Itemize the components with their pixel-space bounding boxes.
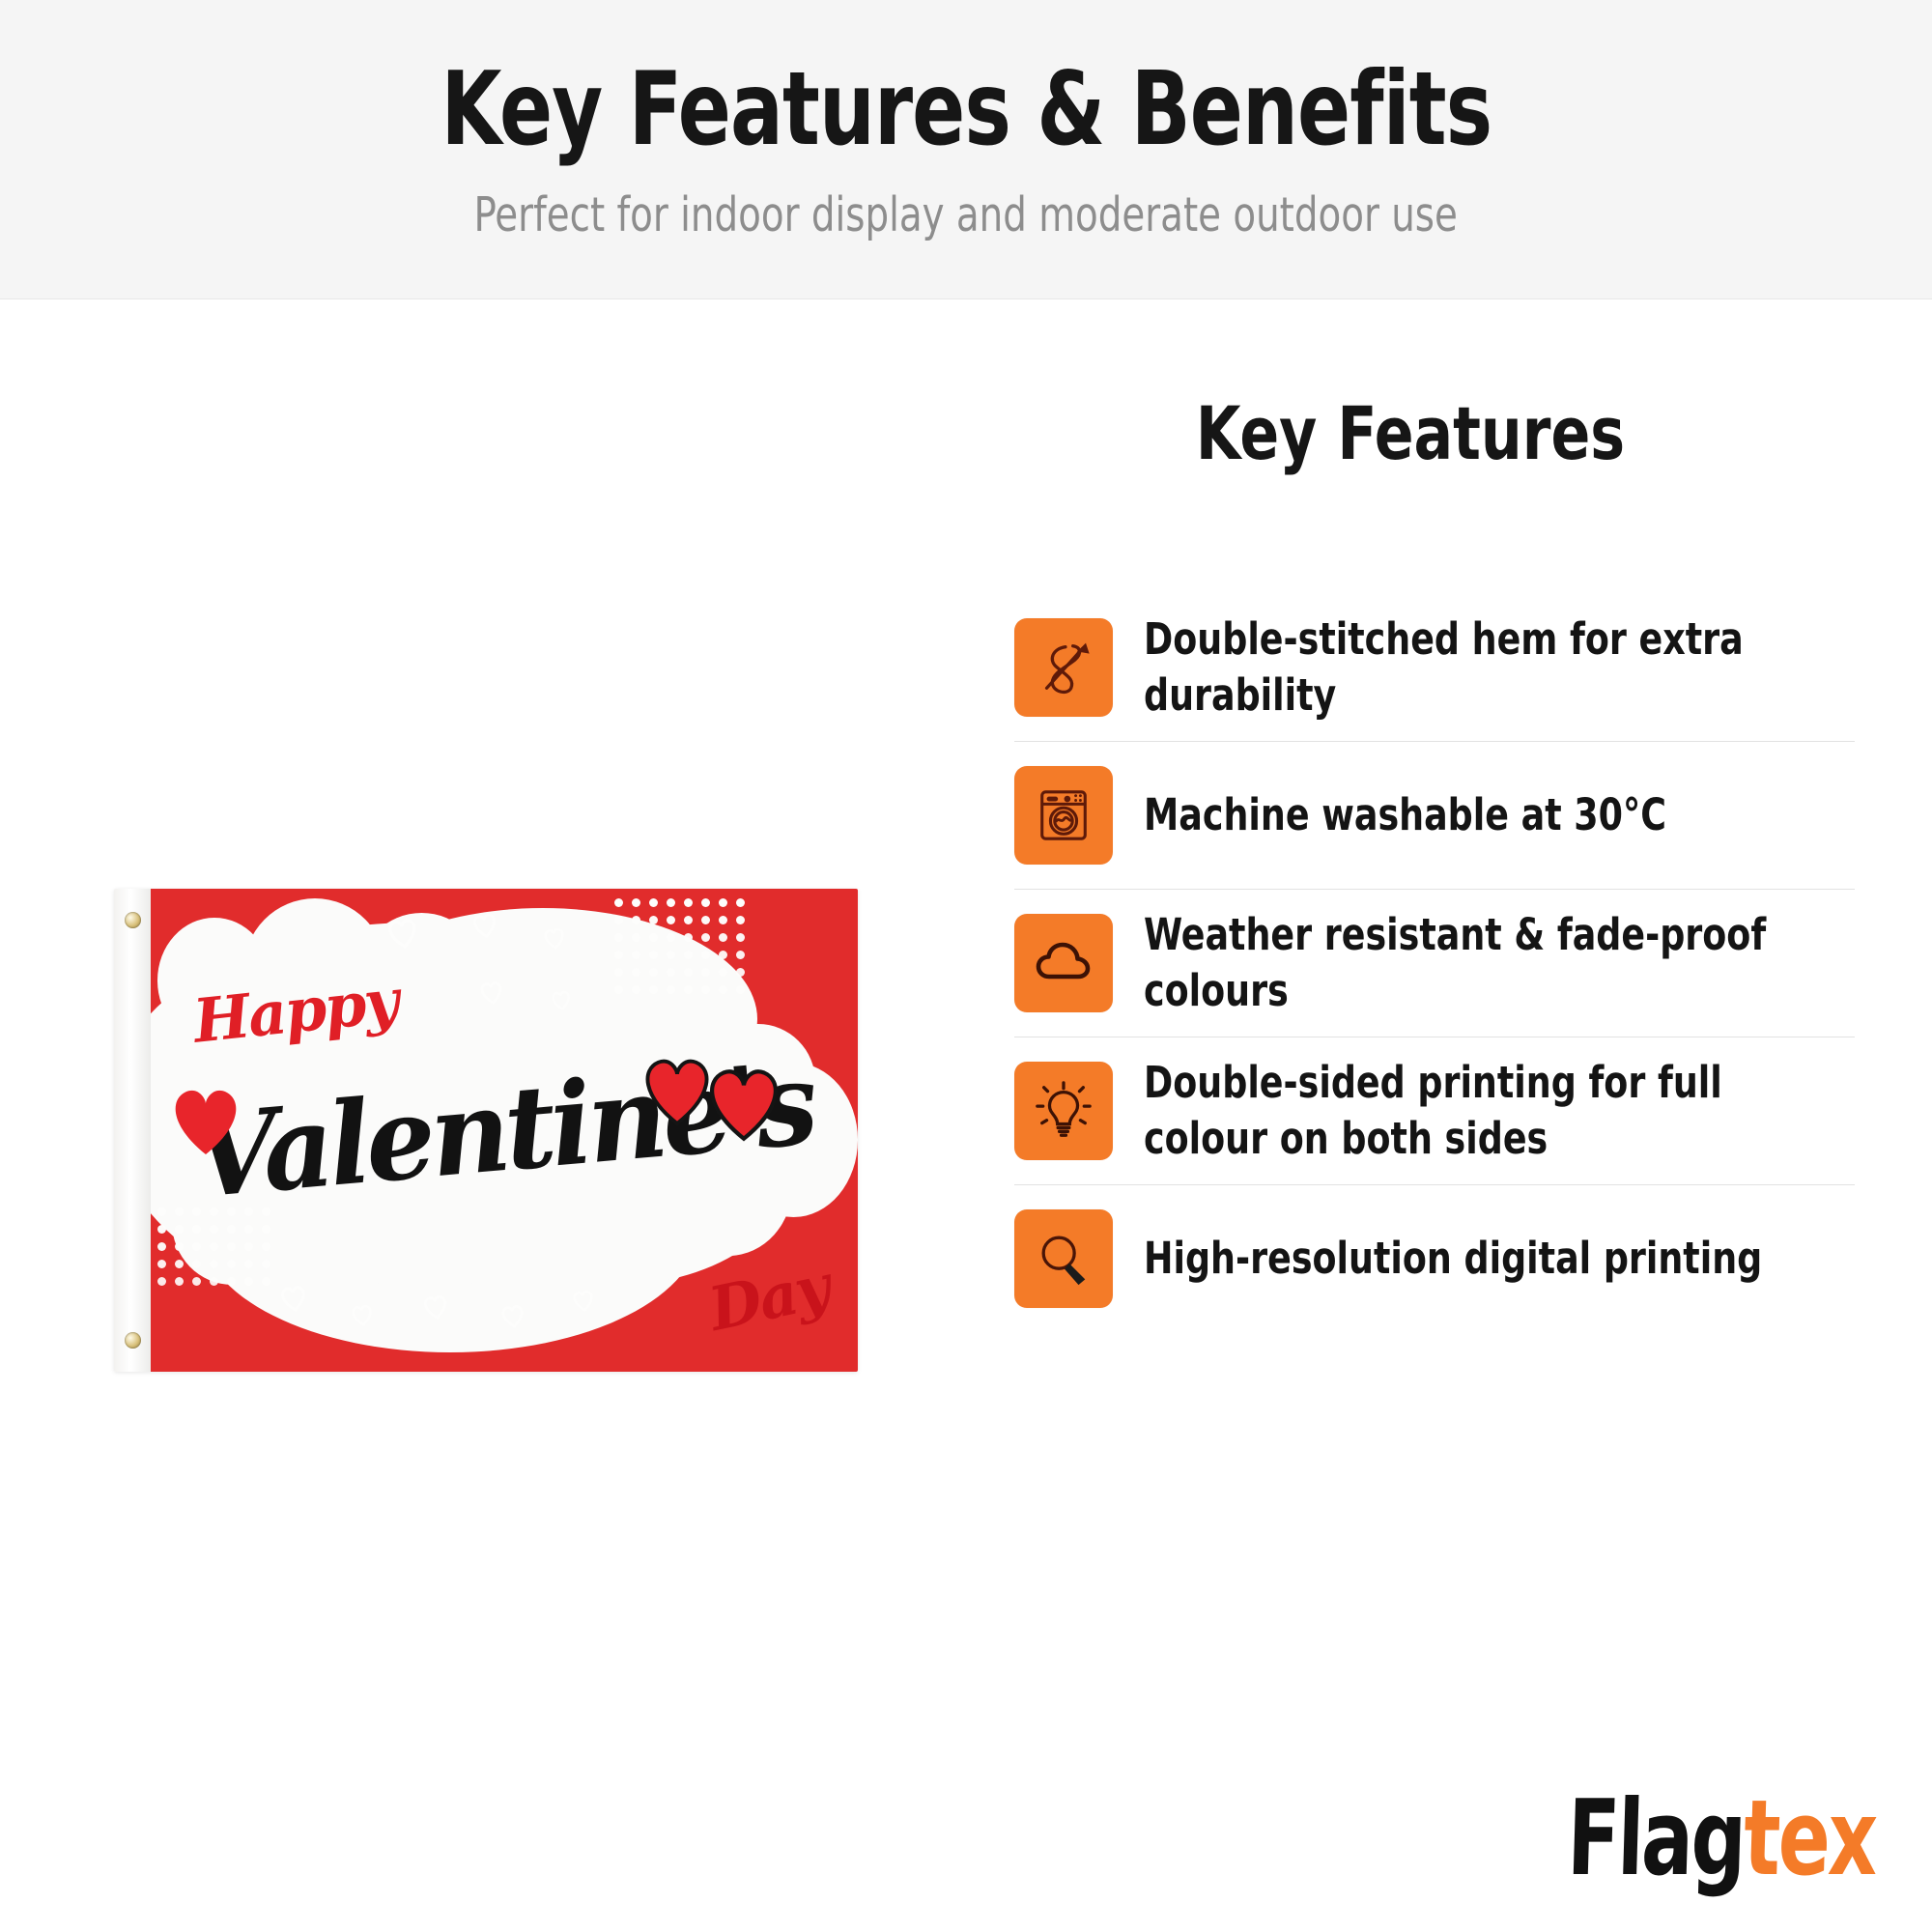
magnifier-icon bbox=[1014, 1209, 1113, 1308]
flag-dot bbox=[227, 1260, 236, 1268]
flag-dot bbox=[157, 1277, 166, 1286]
feature-item[interactable]: Weather resistant & fade-proof colours bbox=[1014, 890, 1855, 1037]
flag-dot bbox=[262, 1242, 270, 1251]
feature-label: High-resolution digital printing bbox=[1144, 1231, 1783, 1287]
flag-dot bbox=[210, 1225, 218, 1234]
flag-dot bbox=[210, 1260, 218, 1268]
page-header: Key Features & Benefits Perfect for indo… bbox=[0, 0, 1932, 299]
flag-dot bbox=[175, 1277, 184, 1286]
flag-dot bbox=[175, 1225, 184, 1234]
features-heading: Key Features bbox=[1037, 390, 1784, 476]
flag-dot bbox=[227, 1277, 236, 1286]
flag-outline-heart bbox=[549, 989, 573, 1012]
flag-dot bbox=[175, 1207, 184, 1216]
feature-item[interactable]: Double-sided printing for full colour on… bbox=[1014, 1037, 1855, 1184]
flag-dot bbox=[684, 898, 693, 907]
flag-dot bbox=[736, 968, 745, 977]
flag-dot bbox=[719, 916, 727, 924]
flag-dot bbox=[157, 1260, 166, 1268]
flag-dot bbox=[736, 898, 745, 907]
feature-label: Weather resistant & fade-proof colours bbox=[1144, 907, 1783, 1018]
flag-outline-heart bbox=[470, 911, 500, 940]
flag-dot bbox=[244, 1225, 253, 1234]
needle-thread-icon bbox=[1014, 618, 1113, 717]
flag-dot bbox=[210, 1277, 218, 1286]
flag-dot bbox=[667, 916, 675, 924]
flag-dot bbox=[262, 1277, 270, 1286]
flag-solid-heart bbox=[700, 1063, 787, 1144]
valentines-flag: Happy Valentine's Day bbox=[114, 889, 858, 1372]
feature-item[interactable]: High-resolution digital printing bbox=[1014, 1185, 1855, 1332]
feature-label: Machine washable at 30°C bbox=[1144, 787, 1783, 843]
flag-dot bbox=[227, 1225, 236, 1234]
flag-dot bbox=[667, 898, 675, 907]
feature-item[interactable]: Double-stitched hem for extra durability bbox=[1014, 594, 1855, 741]
flag-dot bbox=[244, 1277, 253, 1286]
flag-grommet bbox=[125, 1332, 141, 1349]
flag-dot bbox=[632, 898, 640, 907]
flag-dot bbox=[157, 1225, 166, 1234]
flag-text-day: Day bbox=[703, 1251, 835, 1345]
lightbulb-icon bbox=[1014, 1062, 1113, 1160]
flag-dot bbox=[736, 916, 745, 924]
features-list: Double-stitched hem for extra durability… bbox=[1014, 594, 1855, 1332]
flag-outline-heart bbox=[542, 925, 568, 951]
flag-dot bbox=[701, 933, 710, 942]
flag-dot bbox=[684, 916, 693, 924]
flag-outline-heart bbox=[277, 1283, 310, 1314]
flag-dot bbox=[719, 951, 727, 959]
flag-dot bbox=[262, 1225, 270, 1234]
flag-dot bbox=[719, 898, 727, 907]
flag-hoist-sleeve bbox=[114, 889, 151, 1372]
flag-dot bbox=[227, 1242, 236, 1251]
flag-dot bbox=[192, 1225, 201, 1234]
flag-dot bbox=[192, 1242, 201, 1251]
brand-logo-part1: Flag bbox=[1566, 1778, 1746, 1899]
feature-label: Double-sided printing for full colour on… bbox=[1144, 1055, 1783, 1166]
flag-dot bbox=[719, 933, 727, 942]
flag-dot bbox=[736, 933, 745, 942]
flag-outline-heart bbox=[420, 1293, 450, 1321]
flag-dot bbox=[614, 898, 623, 907]
brand-logo: Flagtex bbox=[1566, 1787, 1877, 1891]
flag-outline-heart bbox=[498, 1302, 526, 1329]
flag-dot bbox=[649, 898, 658, 907]
flag-outline-heart bbox=[477, 979, 505, 1006]
washing-machine-icon bbox=[1014, 766, 1113, 865]
flag-dot bbox=[701, 898, 710, 907]
product-image: Happy Valentine's Day bbox=[114, 889, 858, 1372]
brand-logo-part2: tex bbox=[1743, 1778, 1878, 1899]
flag-dot bbox=[262, 1260, 270, 1268]
flag-dot bbox=[157, 1207, 166, 1216]
flag-outline-heart bbox=[384, 916, 421, 951]
flag-grommet bbox=[125, 912, 141, 928]
page-subtitle: Perfect for indoor display and moderate … bbox=[474, 187, 1458, 242]
flag-dot bbox=[192, 1277, 201, 1286]
flag-dot bbox=[649, 916, 658, 924]
feature-label: Double-stitched hem for extra durability bbox=[1144, 611, 1783, 723]
page-title: Key Features & Benefits bbox=[440, 56, 1492, 162]
feature-item[interactable]: Machine washable at 30°C bbox=[1014, 742, 1855, 889]
flag-dot bbox=[175, 1260, 184, 1268]
flag-field: Happy Valentine's Day bbox=[143, 889, 858, 1372]
flag-dot bbox=[157, 1242, 166, 1251]
flag-outline-heart bbox=[349, 1302, 375, 1327]
flag-outline-heart bbox=[571, 1288, 597, 1313]
flag-dot bbox=[736, 951, 745, 959]
flag-solid-heart bbox=[164, 1082, 247, 1159]
flag-dot bbox=[175, 1242, 184, 1251]
flag-dot bbox=[192, 1260, 201, 1268]
flag-dot bbox=[210, 1242, 218, 1251]
cloud-icon bbox=[1014, 914, 1113, 1012]
flag-dot bbox=[701, 916, 710, 924]
flag-dot bbox=[244, 1260, 253, 1268]
flag-dot bbox=[244, 1242, 253, 1251]
